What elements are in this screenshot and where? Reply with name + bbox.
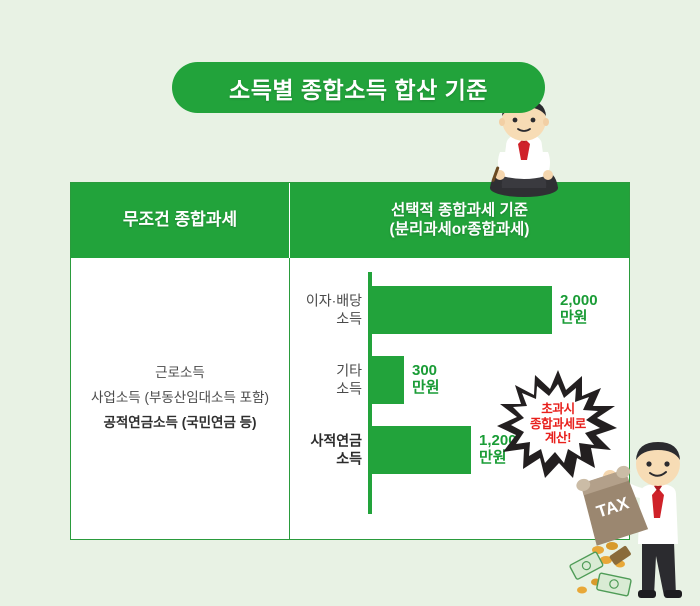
income-type-public-pension: 공적연금소득 (국민연금 등) xyxy=(103,411,256,436)
table-header-selective-line1: 선택적 종합과세 기준 xyxy=(390,202,530,221)
table-header-selective: 선택적 종합과세 기준 (분리과세or종합과세) xyxy=(289,183,629,258)
table-header-selective-line2: (분리과세or종합과세) xyxy=(390,221,530,240)
callout-line-1: 초과시 xyxy=(541,402,575,417)
chart-category-label-private-pension: 사적연금 소득 xyxy=(288,433,362,468)
income-type-business: 사업소득 (부동산임대소득 포함) xyxy=(91,386,269,411)
chart-value-other-income: 300 만원 xyxy=(412,363,440,397)
chart-value-number: 2,000 xyxy=(560,293,598,310)
chart-category-line1: 이자·배당 xyxy=(288,293,362,311)
callout-line-2: 종합과세로 xyxy=(530,417,586,432)
table-header-unconditional: 무조건 종합과세 xyxy=(71,183,289,258)
chart-value-interest-dividend: 2,000 만원 xyxy=(560,293,598,327)
chart-category-line2: 소득 xyxy=(288,310,362,328)
page-title-text: 소득별 종합소득 합산 기준 xyxy=(229,71,488,105)
chart-value-number: 300 xyxy=(412,363,440,380)
income-type-employment: 근로소득 xyxy=(155,361,205,386)
tax-bag-character-illustration: TAX xyxy=(568,438,700,606)
chart-category-line1: 사적연금 xyxy=(288,433,362,451)
chart-category-label-interest-dividend: 이자·배당 소득 xyxy=(288,293,362,328)
chart-row-interest-dividend: 이자·배당 소득 2,000 만원 xyxy=(290,280,629,340)
infographic-canvas: 소득별 종합소득 합산 기준 무조건 종합과세 xyxy=(0,0,700,606)
chart-category-line1: 기타 xyxy=(288,363,362,381)
chart-category-line2: 소득 xyxy=(288,450,362,468)
chart-value-unit: 만원 xyxy=(560,310,598,327)
chart-bar-private-pension xyxy=(372,426,471,474)
chart-category-label-other-income: 기타 소득 xyxy=(288,363,362,398)
page-title: 소득별 종합소득 합산 기준 xyxy=(172,62,545,113)
chart-bar-interest-dividend xyxy=(372,286,552,334)
chart-bar-other-income xyxy=(372,356,404,404)
unconditional-income-list: 근로소득 사업소득 (부동산임대소득 포함) 공적연금소득 (국민연금 등) xyxy=(71,258,289,539)
chart-value-unit: 만원 xyxy=(412,380,440,397)
comparison-table: 무조건 종합과세 선택적 종합과세 기준 (분리과세or종합과세) 근로소득 사… xyxy=(70,182,630,540)
chart-category-line2: 소득 xyxy=(288,380,362,398)
